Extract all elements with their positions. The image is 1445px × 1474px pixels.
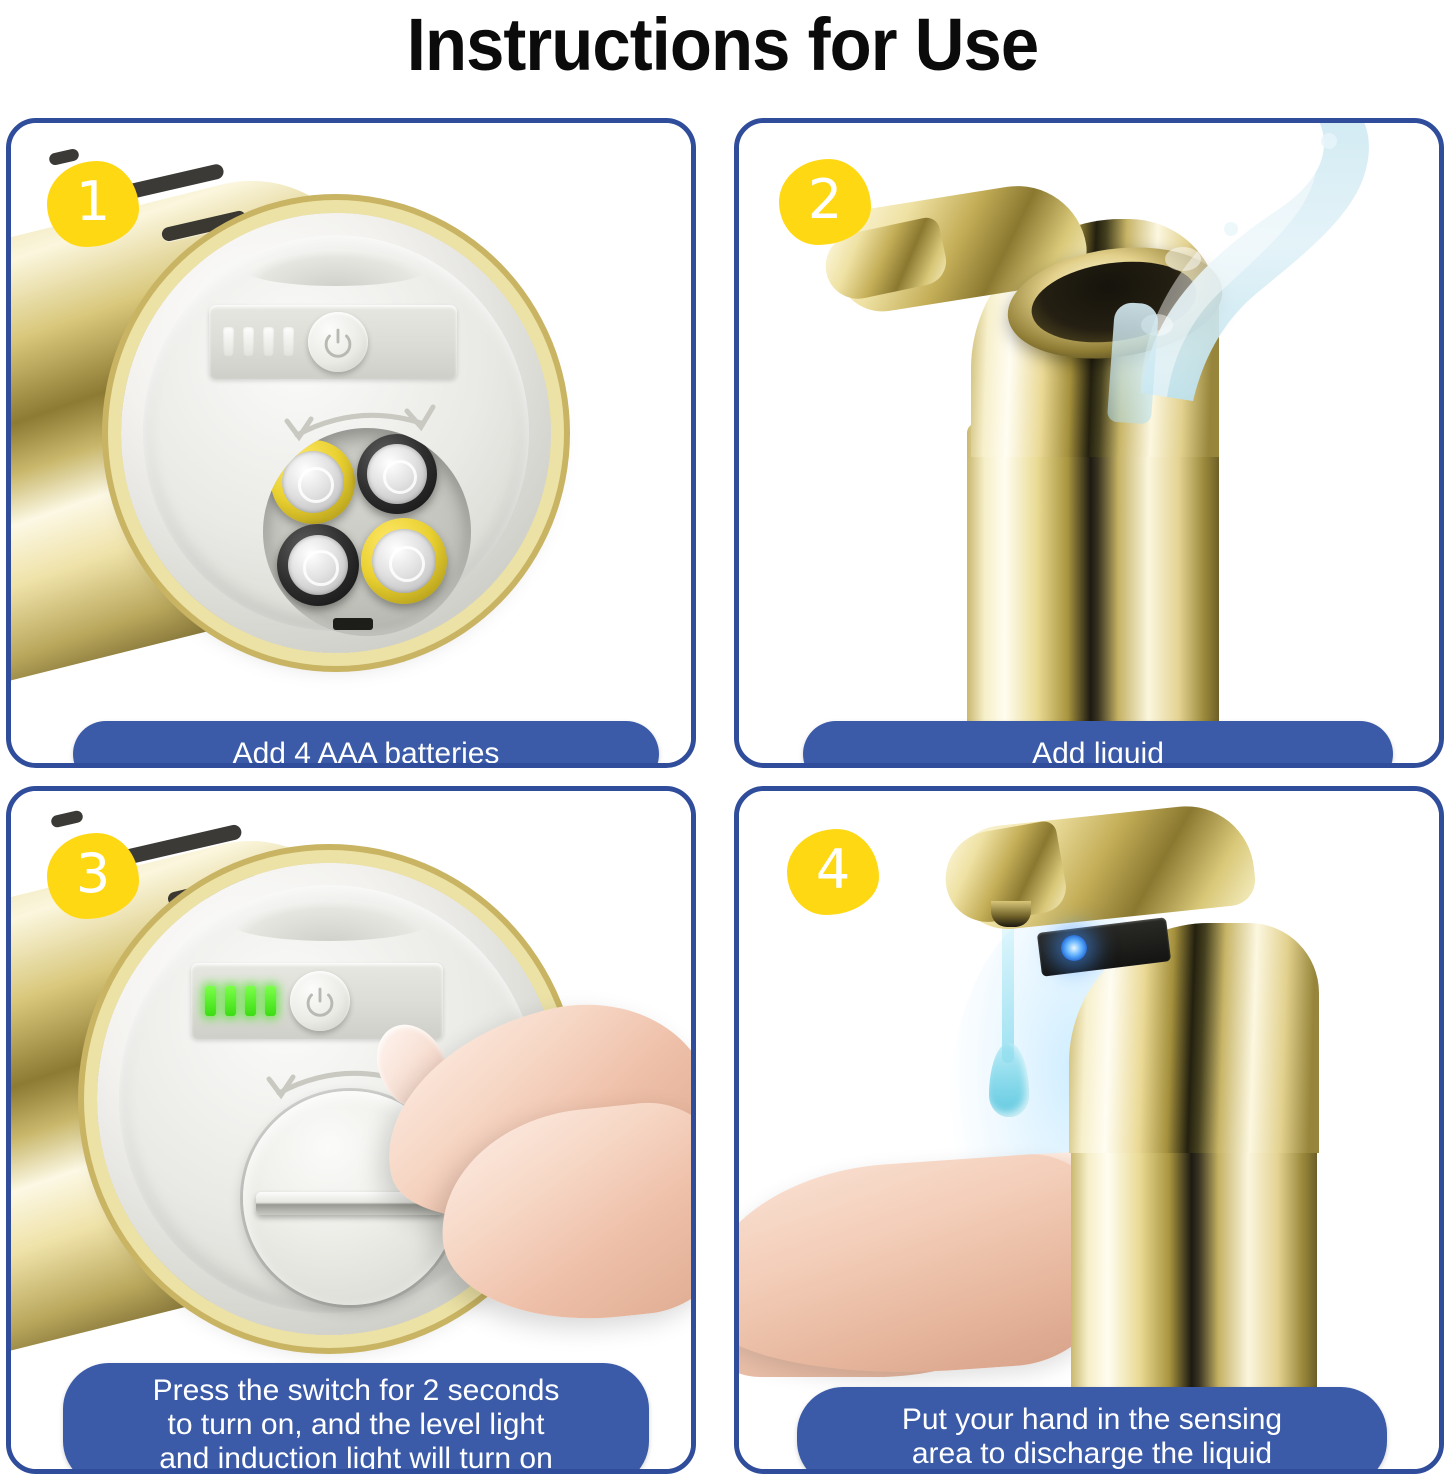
open-hand [739,1149,1126,1388]
caption-line: Press the switch for 2 seconds [153,1374,560,1408]
liquid-stream [1002,923,1014,1063]
level-light-3 [263,327,274,357]
body-slot-small [48,148,80,166]
water-stream [1017,123,1437,417]
battery-black-1 [357,434,437,514]
water-entering-opening [1107,302,1159,425]
dispenser-column [967,423,1219,763]
battery-terminal-mark [333,618,373,630]
step-panel-2: 2 Add liquid [734,118,1444,768]
control-panel[interactable] [209,305,457,379]
battery-yellow-1 [271,440,355,524]
level-light-2 [225,986,236,1016]
cap-notch [243,251,428,287]
cap-notch [228,902,430,941]
step-caption-4: Put your hand in the sensing area to dis… [797,1387,1387,1474]
level-light-1 [205,986,216,1016]
power-icon [321,325,355,359]
step-number-badge-2: 2 [779,159,871,245]
step-panel-1: 1 Add 4 AAA batteries [6,118,696,768]
step-caption-2: Add liquid [803,721,1393,768]
step-panel-4: 4 Put your hand in the sensing area to d… [734,786,1444,1474]
step-number-badge-1: 1 [47,161,139,247]
level-light-bars [223,327,294,357]
caption-line: Add 4 AAA batteries [233,737,500,768]
caption-line: Add liquid [1032,737,1164,768]
battery-black-2 [277,524,359,606]
caption-line: to turn on, and the level light [168,1408,545,1442]
power-button[interactable] [308,312,368,372]
level-light-2 [243,327,254,357]
step-caption-3: Press the switch for 2 seconds to turn o… [63,1363,649,1474]
step-panel-3: 3 Press the switch for 2 seconds to turn… [6,786,696,1474]
level-light-4 [265,986,276,1016]
steps-grid: 1 Add 4 AAA batteries [6,118,1438,1468]
nozzle-outlet [991,901,1031,927]
induction-led-icon [1061,935,1087,961]
caption-line: area to discharge the liquid [912,1437,1272,1471]
caption-line: and induction light will turn on [159,1442,553,1474]
level-light-3 [245,986,256,1016]
power-button[interactable] [290,971,350,1031]
level-light-4 [283,327,294,357]
caption-line: Put your hand in the sensing [902,1403,1282,1437]
step-caption-1: Add 4 AAA batteries [73,721,659,768]
level-light-bars [205,986,276,1016]
level-light-1 [223,327,234,357]
step-number-badge-3: 3 [47,833,139,919]
battery-yellow-2 [361,518,447,604]
power-icon [303,984,337,1018]
page-title: Instructions for Use [51,2,1395,87]
battery-well [263,428,471,636]
body-slot-small [50,810,84,829]
step-number-badge-4: 4 [787,829,879,915]
